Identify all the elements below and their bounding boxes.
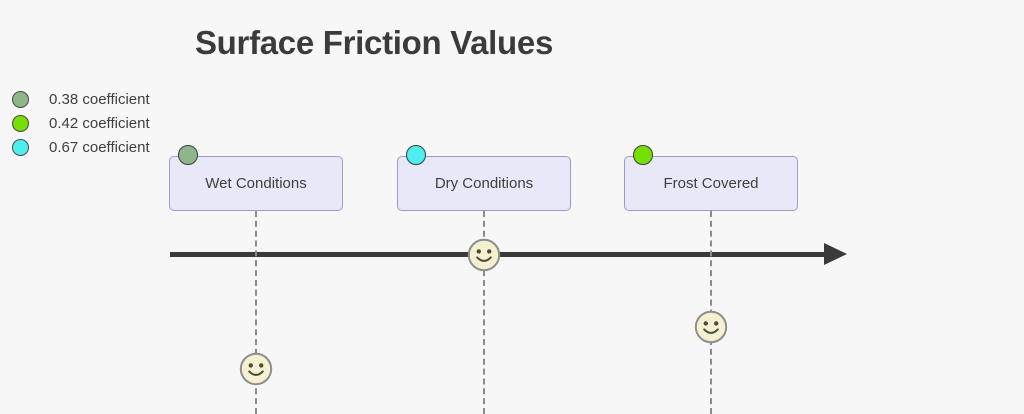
legend-item: 0.67 coefficient [12,136,150,158]
smiley-icon [694,310,728,344]
event-box[interactable]: Frost Covered [624,156,798,211]
smiley-icon [467,238,501,272]
event-marker-dot[interactable] [178,145,198,165]
event-box[interactable]: Dry Conditions [397,156,571,211]
event-box-label: Wet Conditions [205,175,306,192]
timeline-chart: Surface Friction Values 0.38 coefficient… [0,0,1024,414]
event-box[interactable]: Wet Conditions [169,156,343,211]
event-marker-dot[interactable] [406,145,426,165]
legend: 0.38 coefficient 0.42 coefficient 0.67 c… [12,88,150,158]
legend-item-label: 0.42 coefficient [49,115,150,132]
event-marker-dot[interactable] [633,145,653,165]
legend-swatch-icon [12,91,29,108]
legend-swatch-icon [12,115,29,132]
legend-item-label: 0.67 coefficient [49,139,150,156]
smiley-icon [239,352,273,386]
event-box-label: Dry Conditions [435,175,533,192]
event-box-label: Frost Covered [663,175,758,192]
legend-item-label: 0.38 coefficient [49,91,150,108]
arrow-right-icon [824,243,847,265]
page-title: Surface Friction Values [168,22,580,64]
legend-swatch-icon [12,139,29,156]
legend-item: 0.38 coefficient [12,88,150,110]
legend-item: 0.42 coefficient [12,112,150,134]
